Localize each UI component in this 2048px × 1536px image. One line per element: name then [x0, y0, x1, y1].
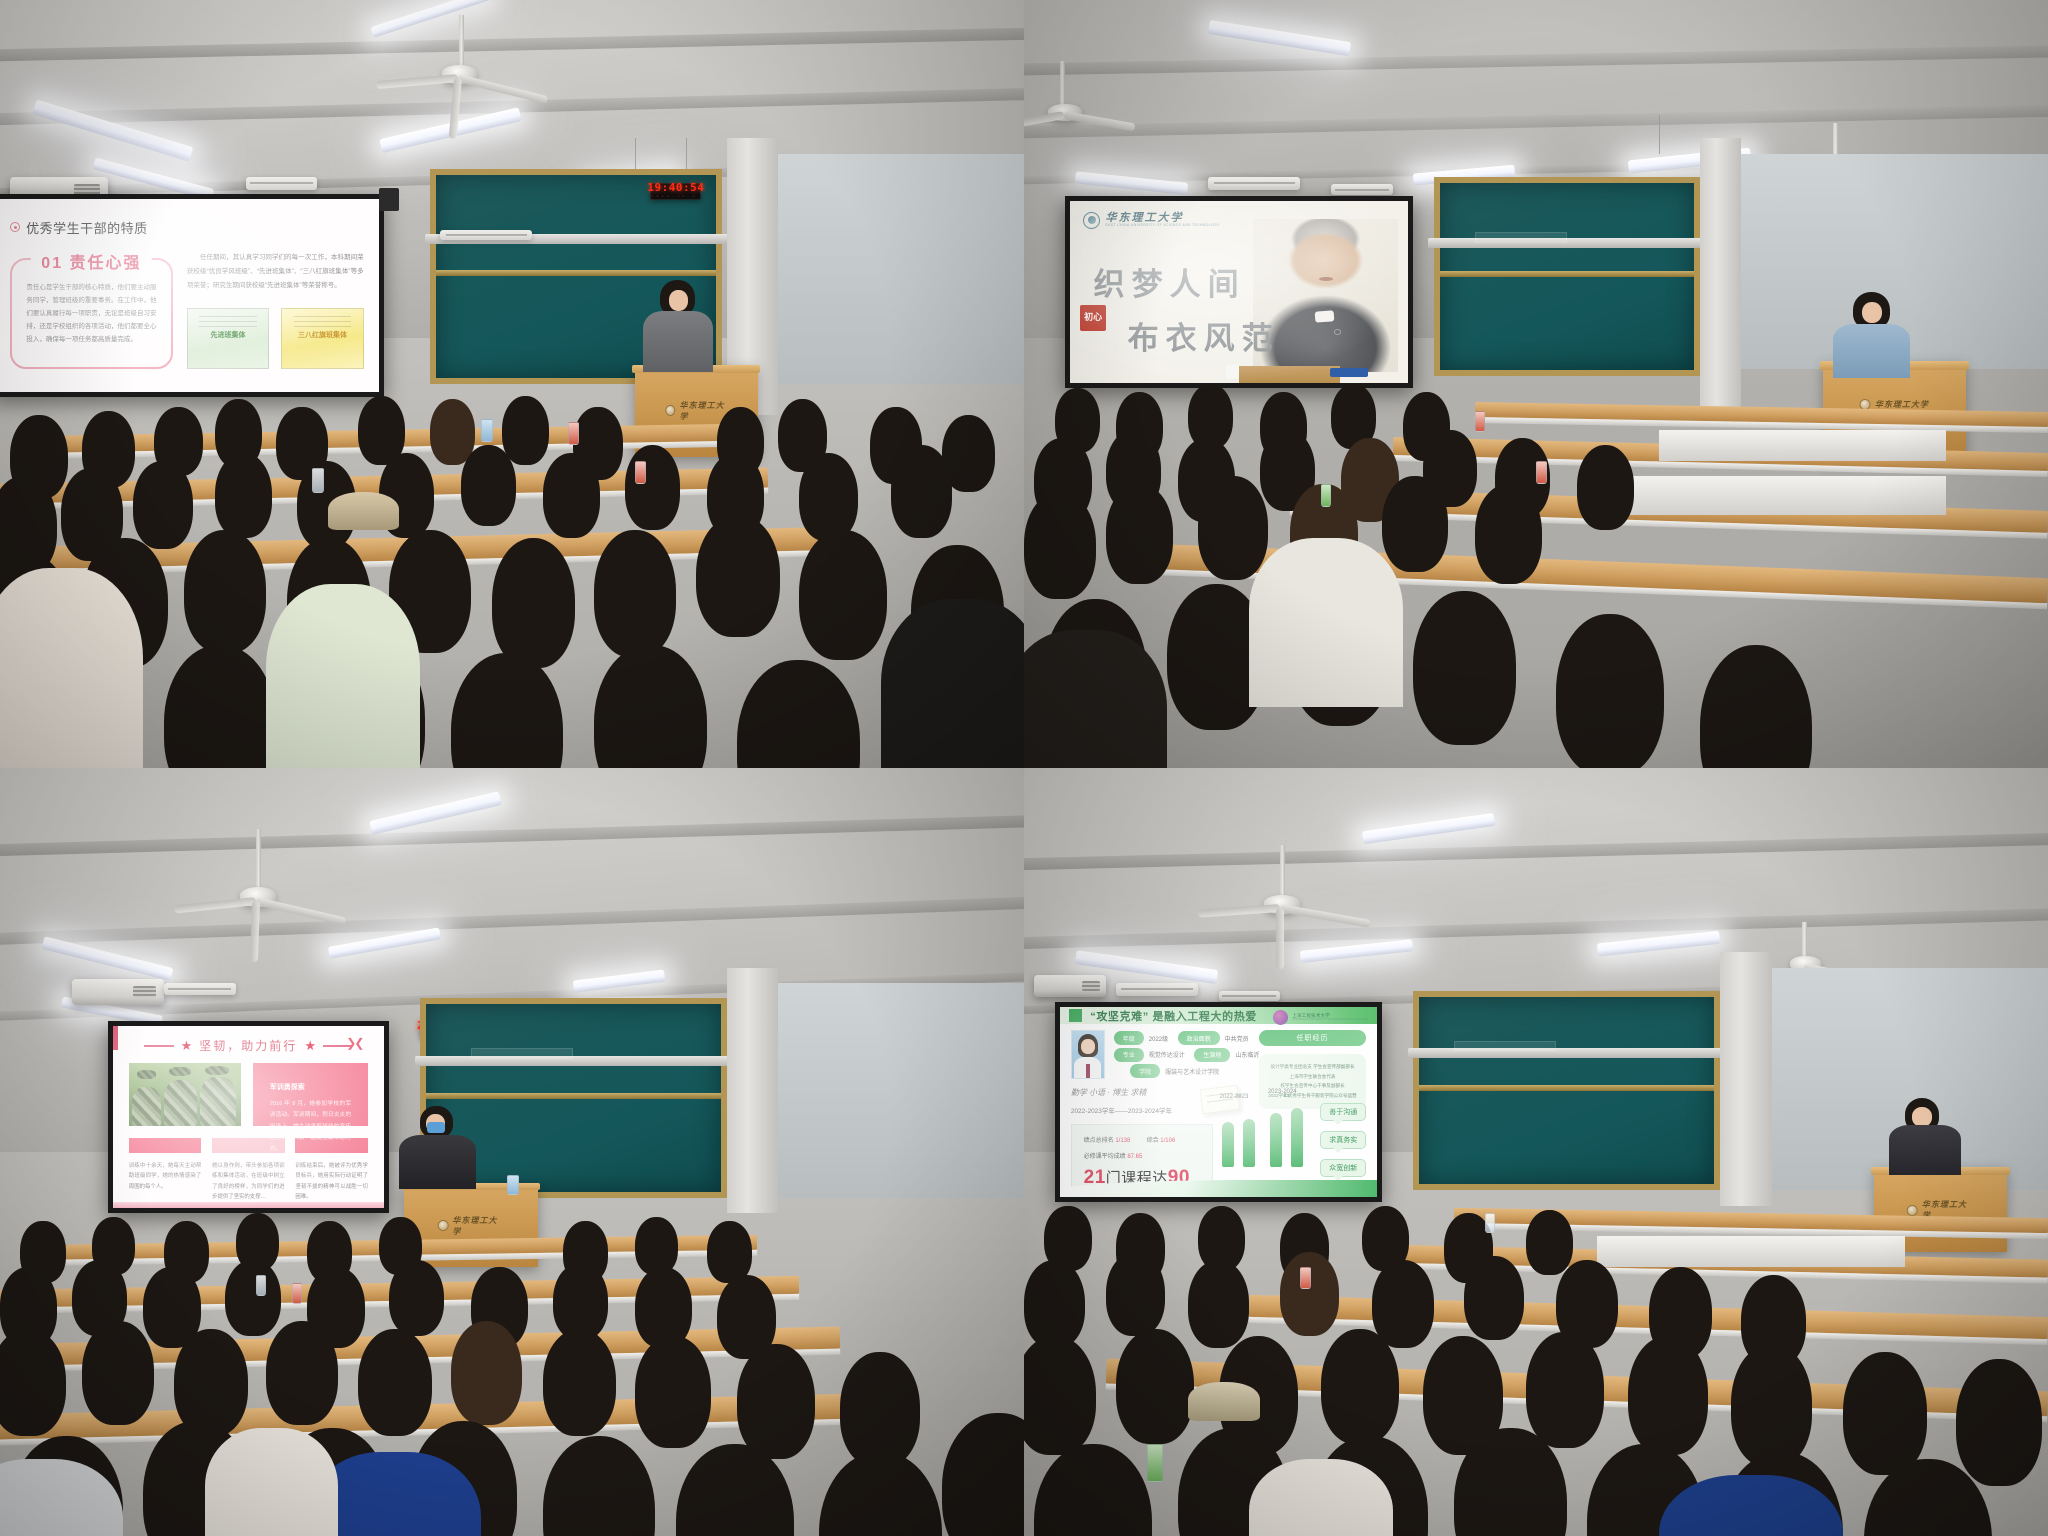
audience-body: [881, 599, 1024, 768]
audience-head: [358, 1329, 432, 1437]
clock-date: 2 0 2 4 . 1 0 . 2 4: [651, 194, 700, 202]
fan-rod: [459, 15, 464, 69]
audience-head: [451, 1321, 523, 1425]
university-logo-icon: [666, 405, 676, 416]
audience-head-front: [1413, 591, 1515, 745]
board-divider: [1440, 271, 1694, 277]
audience-head: [492, 538, 576, 669]
field-label: 年级: [1114, 1031, 1144, 1045]
board-divider: [436, 270, 716, 276]
audience-head: [266, 1321, 338, 1425]
water-bottle: [312, 468, 323, 493]
desk-front-panel: [1597, 1236, 1904, 1267]
student-photo: [1071, 1030, 1105, 1079]
ac-unit: [246, 177, 318, 190]
audience-head: [1731, 1344, 1813, 1467]
projection-screen: 优秀学生干部的特质 01 责任心强 责任心是学生干部的核心特质，他们要主动服务同…: [0, 194, 384, 398]
portrait-collar: [1315, 310, 1335, 322]
blackboard: [1434, 177, 1700, 377]
projector: [72, 979, 164, 1005]
presenter-face: [669, 290, 688, 311]
stat-label: 必修课平均成绩: [1084, 1154, 1126, 1160]
audience-head: [1843, 1352, 1927, 1475]
stat-value: 1/138: [1115, 1138, 1130, 1144]
water-bottle: [481, 419, 492, 442]
water-bottle: [568, 422, 578, 445]
audience-head: [389, 1260, 444, 1337]
column-text: 训练结束后，她被评为优秀学员标兵，她用实际行动证明了坚韧不拔的精神可以战胜一切困…: [295, 1161, 368, 1203]
audience-head: [1321, 1329, 1399, 1444]
audience-head: [1024, 492, 1096, 600]
audience-head: [737, 1344, 815, 1459]
presenter-body: [643, 311, 713, 372]
presenter-body: [399, 1135, 476, 1189]
column-text: 训练中十余天，她每天主动帮助班级同学，她的热情感染了周围的每个人。: [129, 1161, 202, 1193]
university-logo-icon: [1273, 1010, 1288, 1025]
fan-rod: [1280, 845, 1285, 899]
field-value: 服装与艺术设计学院: [1165, 1067, 1219, 1076]
water-bottle: [1147, 1444, 1163, 1482]
presenter-face: [1862, 302, 1882, 324]
audience-head: [707, 1221, 752, 1282]
light-hanger: [1659, 115, 1660, 153]
slide-photo-military: [129, 1063, 241, 1126]
slide-heading-row: ★ 坚韧，助力前行 ★: [113, 1037, 385, 1054]
audience-head: [1382, 476, 1448, 572]
digital-clock: 19:40:54 2 0 2 4 . 1 0 . 2 4: [650, 183, 701, 200]
audience-head: [799, 530, 887, 661]
audience-body: [266, 584, 420, 768]
slide-title-line1: 织梦人间: [1094, 259, 1280, 304]
university-logo-icon: [1083, 212, 1100, 229]
audience-head: [1577, 445, 1634, 529]
speaker-box: [379, 188, 399, 211]
square-bullet-icon: [1069, 1009, 1082, 1022]
soldier-figure: [200, 1077, 236, 1126]
audience-head-front: [1556, 614, 1664, 768]
water-bottle: [635, 461, 646, 484]
military-cap: [205, 1066, 229, 1075]
slide-left-paragraph: 责任心是学生干部的核心特质，他们要主动服务同学，管理班级的重要事务。在工作中，他…: [26, 281, 156, 346]
audience-head: [696, 515, 780, 638]
trait-tag: 善于沟通: [1320, 1103, 1366, 1121]
water-bottle: [256, 1275, 266, 1297]
wall-pillar: [1700, 138, 1741, 414]
experience-title: 任职经历: [1259, 1030, 1367, 1046]
audience-head: [594, 530, 676, 657]
baseball-cap: [328, 492, 400, 530]
wall-vent: [1219, 991, 1280, 1001]
audience-head: [174, 1329, 248, 1437]
water-bottle: [292, 1283, 302, 1305]
fan-rod: [1060, 61, 1065, 107]
field-label: 政治面貌: [1178, 1031, 1220, 1045]
audience-body: [1249, 1459, 1392, 1536]
soldier-figure: [132, 1087, 161, 1126]
chart-bar: 3.7: [1243, 1119, 1255, 1167]
chart-category-label: 2023-2024: [1268, 1089, 1297, 1095]
fan-rod: [1802, 922, 1807, 960]
audience-head: [1372, 1260, 1433, 1348]
chart-bar: 4.1: [1291, 1108, 1303, 1168]
slide-column: 训练中十余天，她每天主动帮助班级同学，她的热情感染了周围的每个人。: [129, 1138, 202, 1185]
lectern-logo: 华东理工大学: [666, 400, 727, 422]
audience-head: [1464, 1256, 1523, 1340]
presenter-body: [1889, 1125, 1961, 1175]
projection-screen: 华东理工大学 EAST CHINA UNIVERSITY OF SCIENCE …: [1065, 196, 1413, 388]
audience-head: [461, 445, 516, 526]
field-value: 中共党员: [1225, 1034, 1249, 1043]
slide-card: 01 责任心强 责任心是学生干部的核心特质，他们要主动服务同学，管理班级的重要事…: [10, 258, 173, 369]
column-text: 她以身作则，带头参加各项训练和集体活动，在班级中树立了良好的榜样，为同学们的进步…: [212, 1161, 285, 1203]
audience-head: [543, 453, 600, 537]
field-label: 专业: [1114, 1048, 1144, 1062]
clock-time: 19:40:54: [647, 181, 704, 194]
experience-block: 任职经历 设计学类专业团总支 学生会宣传部副部长 上海市学生联合会代表 校学生会…: [1259, 1030, 1367, 1079]
slide-badge: 01 责任心强: [31, 249, 151, 273]
chart-bar: 3.6: [1222, 1122, 1234, 1168]
profile-fields: 年级 2022级 政治面貌 中共党员 专业: [1114, 1030, 1250, 1079]
trait-tag: 众宽创新: [1320, 1159, 1366, 1177]
experience-line: 设计学类专业团总支 学生会宣传部副部长: [1266, 1062, 1359, 1072]
slide-content-3: ★ 坚韧，助力前行 ★ ❯❮: [113, 1026, 385, 1208]
audience-head: [1280, 1252, 1339, 1336]
audience-head: [635, 1267, 692, 1348]
ac-unit: [1208, 177, 1300, 191]
desk-front-panel: [1597, 476, 1945, 514]
audience-head: [82, 1321, 154, 1425]
blackboard: [1413, 991, 1720, 1191]
audience-head: [543, 1329, 617, 1437]
slide-logo: 上海工程技术大学 SHANGHAI UNIVERSITY OF ENGINEER…: [1273, 1010, 1367, 1025]
slide-heading: “攻坚克难” 是融入工程大的热爱: [1090, 1008, 1257, 1024]
audience-head: [0, 1329, 66, 1437]
field-label: 生源地: [1194, 1048, 1230, 1062]
note-heading: 军训勇探索: [270, 1082, 351, 1092]
stat-label: 绩点总排名: [1084, 1138, 1114, 1144]
university-logo-icon: [438, 1220, 449, 1231]
slide-heading: 坚韧，助力前行: [199, 1037, 297, 1054]
university-name: 华东理工大学: [680, 400, 728, 422]
field-value: 2022级: [1149, 1034, 1168, 1043]
audience-head: [635, 1336, 711, 1447]
wall-vent: [440, 230, 532, 240]
slide-logo: 华东理工大学 EAST CHINA UNIVERSITY OF SCIENCE …: [1083, 212, 1219, 229]
stat-value: 87.65: [1127, 1154, 1142, 1160]
photo-grid: 优秀学生干部的特质 01 责任心强 责任心是学生干部的核心特质，他们要主动服务同…: [0, 0, 2048, 1536]
presenter-body: [1833, 324, 1910, 378]
audience-head: [215, 453, 272, 537]
audience-head: [625, 445, 680, 529]
experience-line: 上海市学生联合会代表: [1266, 1072, 1359, 1082]
field-value: 山东临沂: [1235, 1050, 1259, 1059]
audience-head: [799, 453, 858, 541]
audience-head: [1116, 1329, 1194, 1444]
stat-label: 综合: [1147, 1138, 1159, 1144]
presenter-face-mask: [427, 1122, 445, 1133]
birds-icon: ❯❮: [346, 1036, 362, 1050]
audience-body: [0, 568, 143, 768]
military-cap: [137, 1070, 156, 1078]
trait-tags: 善于沟通 求真务实 众宽创新: [1320, 1103, 1366, 1177]
audience-head: [225, 1260, 280, 1337]
university-name: 华东理工大学: [452, 1215, 504, 1237]
bar-chart: 2022-2023 2023-2024 3.6 3.7: [1216, 1089, 1316, 1175]
board-divider: [426, 1093, 721, 1099]
slide-heading: 优秀学生干部的特质: [26, 218, 148, 237]
certificate-gold: 三八红旗班集体: [281, 308, 363, 369]
wall-pillar: [727, 968, 778, 1214]
side-wall: [778, 154, 1024, 384]
slide-content-1: 优秀学生干部的特质 01 责任心强 责任心是学生干部的核心特质，他们要主动服务同…: [0, 199, 379, 393]
soldier-figure: [164, 1080, 198, 1125]
portrait-cup: [1226, 365, 1240, 380]
rule-left: [144, 1045, 174, 1047]
audience-head: [133, 461, 192, 549]
audience-head: [1526, 1332, 1604, 1447]
baseball-cap: [1188, 1382, 1260, 1420]
column-bar: [129, 1138, 202, 1153]
chart-bar-value: 4.1: [1283, 1093, 1289, 1098]
audience-head: [1956, 1359, 2042, 1486]
note-text: 2016 年 9 月，她参加学校的军训活动。军训期间，烈日炎炎的操场上，她主动承…: [270, 1099, 351, 1155]
audience-head: [1198, 476, 1268, 580]
fan-rod: [256, 829, 261, 890]
water-bottle: [507, 1175, 519, 1195]
audience-head: [840, 1352, 920, 1467]
projector: [1034, 975, 1106, 997]
panel-3-bottom-left: 20:14:48 2 0 2 4 . 1 0 . 2 4 ★ 坚韧，助力前行 ★…: [0, 768, 1024, 1536]
audience-head: [1024, 1336, 1096, 1455]
bullet-icon: [10, 222, 20, 232]
field-label: 学院: [1130, 1064, 1160, 1078]
slide-title-line2: 布衣风范: [1128, 313, 1280, 358]
board-slide-panel: [1475, 232, 1567, 243]
board-slide-panel: [471, 1048, 573, 1059]
audience-head: [1475, 484, 1543, 584]
slide-content-4: “攻坚克难” 是融入工程大的热爱 上海工程技术大学 SHANGHAI UNIVE…: [1060, 1007, 1378, 1197]
projection-screen: ★ 坚韧，助力前行 ★ ❯❮: [108, 1021, 390, 1213]
lectern-logo: 华东理工大学: [438, 1215, 505, 1237]
audience-head: [1024, 1260, 1085, 1348]
desk-front-panel: [1659, 430, 1946, 461]
slide-right-paragraph: 任任期间，其认真学习同学们的每一次工作，本科期间荣获校级“优良学风班级”、“先进…: [187, 251, 364, 294]
audience-head: [635, 1217, 678, 1275]
audience-head: [184, 530, 266, 653]
water-bottle: [1485, 1213, 1495, 1233]
logo-name-en: SHANGHAI UNIVERSITY OF ENGINEERING SCIEN…: [1292, 1018, 1367, 1021]
water-bottle: [1475, 411, 1485, 433]
star-right-icon: ★: [304, 1039, 316, 1052]
portrait-desk: [1239, 366, 1340, 382]
slide-content-2: 华东理工大学 EAST CHINA UNIVERSITY OF SCIENCE …: [1070, 201, 1408, 383]
water-bottle: [1300, 1267, 1310, 1289]
audience-head: [502, 396, 549, 465]
slide-note-box: 军训勇探索 2016 年 9 月，她参加学校的军训活动。军训期间，烈日炎炎的操场…: [253, 1063, 368, 1126]
wall-pillar: [1720, 952, 1771, 1205]
audience-body: [205, 1428, 338, 1536]
board-slide-panel: [1454, 1041, 1556, 1052]
logo-name-en: EAST CHINA UNIVERSITY OF SCIENCE AND TEC…: [1105, 224, 1219, 228]
panel-1-top-left: 优秀学生干部的特质 01 责任心强 责任心是学生干部的核心特质，他们要主动服务同…: [0, 0, 1024, 768]
portrait-book: [1330, 368, 1367, 377]
side-wall: [778, 983, 1024, 1198]
field-value: 视觉传达设计: [1149, 1050, 1185, 1059]
ac-unit: [1116, 983, 1198, 996]
chart-bar-value: 3.7: [1235, 1093, 1241, 1098]
avatar-face: [1081, 1039, 1094, 1054]
audience-head: [1628, 1336, 1708, 1455]
fan-blade: [1276, 908, 1284, 969]
audience-head: [1188, 1260, 1249, 1348]
board-divider: [1419, 1085, 1714, 1091]
chart-bar: 3.9: [1270, 1113, 1282, 1167]
avatar-tie: [1086, 1064, 1090, 1078]
projection-screen: “攻坚克难” 是融入工程大的热爱 上海工程技术大学 SHANGHAI UNIVE…: [1055, 1002, 1383, 1202]
water-bottle: [1536, 461, 1547, 484]
audience-head: [1526, 1210, 1573, 1275]
chart-category-label: 2022-2023: [1220, 1094, 1249, 1100]
star-left-icon: ★: [181, 1039, 193, 1052]
audience-body: [1249, 538, 1403, 707]
university-logo-icon: [1907, 1205, 1918, 1216]
wall-vent: [1331, 184, 1392, 195]
panel-2-top-right: 20:01:19 2 0 2 4 . 1 0 . 2 4 华东理工大学 EAST…: [1024, 0, 2048, 768]
trait-tag: 求真务实: [1320, 1131, 1366, 1149]
slide-title-block: 织梦人间 布衣风范: [1094, 259, 1280, 358]
audience-head: [891, 445, 952, 537]
portrait-badge: [1334, 329, 1341, 335]
stat-value: 1/106: [1160, 1138, 1175, 1144]
military-cap: [169, 1067, 190, 1076]
water-bottle: [1321, 484, 1331, 507]
portrait-mouth: [1319, 277, 1332, 281]
ac-unit: [164, 983, 236, 995]
certificate-green: 先进班集体: [187, 308, 269, 369]
audience-head: [1106, 1252, 1165, 1336]
audience-head: [1106, 484, 1174, 584]
panel-4-bottom-right: 20:22:01 2 0 2 4 . 1 0 . 2 4 “攻坚克难” 是融入工…: [1024, 768, 2048, 1536]
